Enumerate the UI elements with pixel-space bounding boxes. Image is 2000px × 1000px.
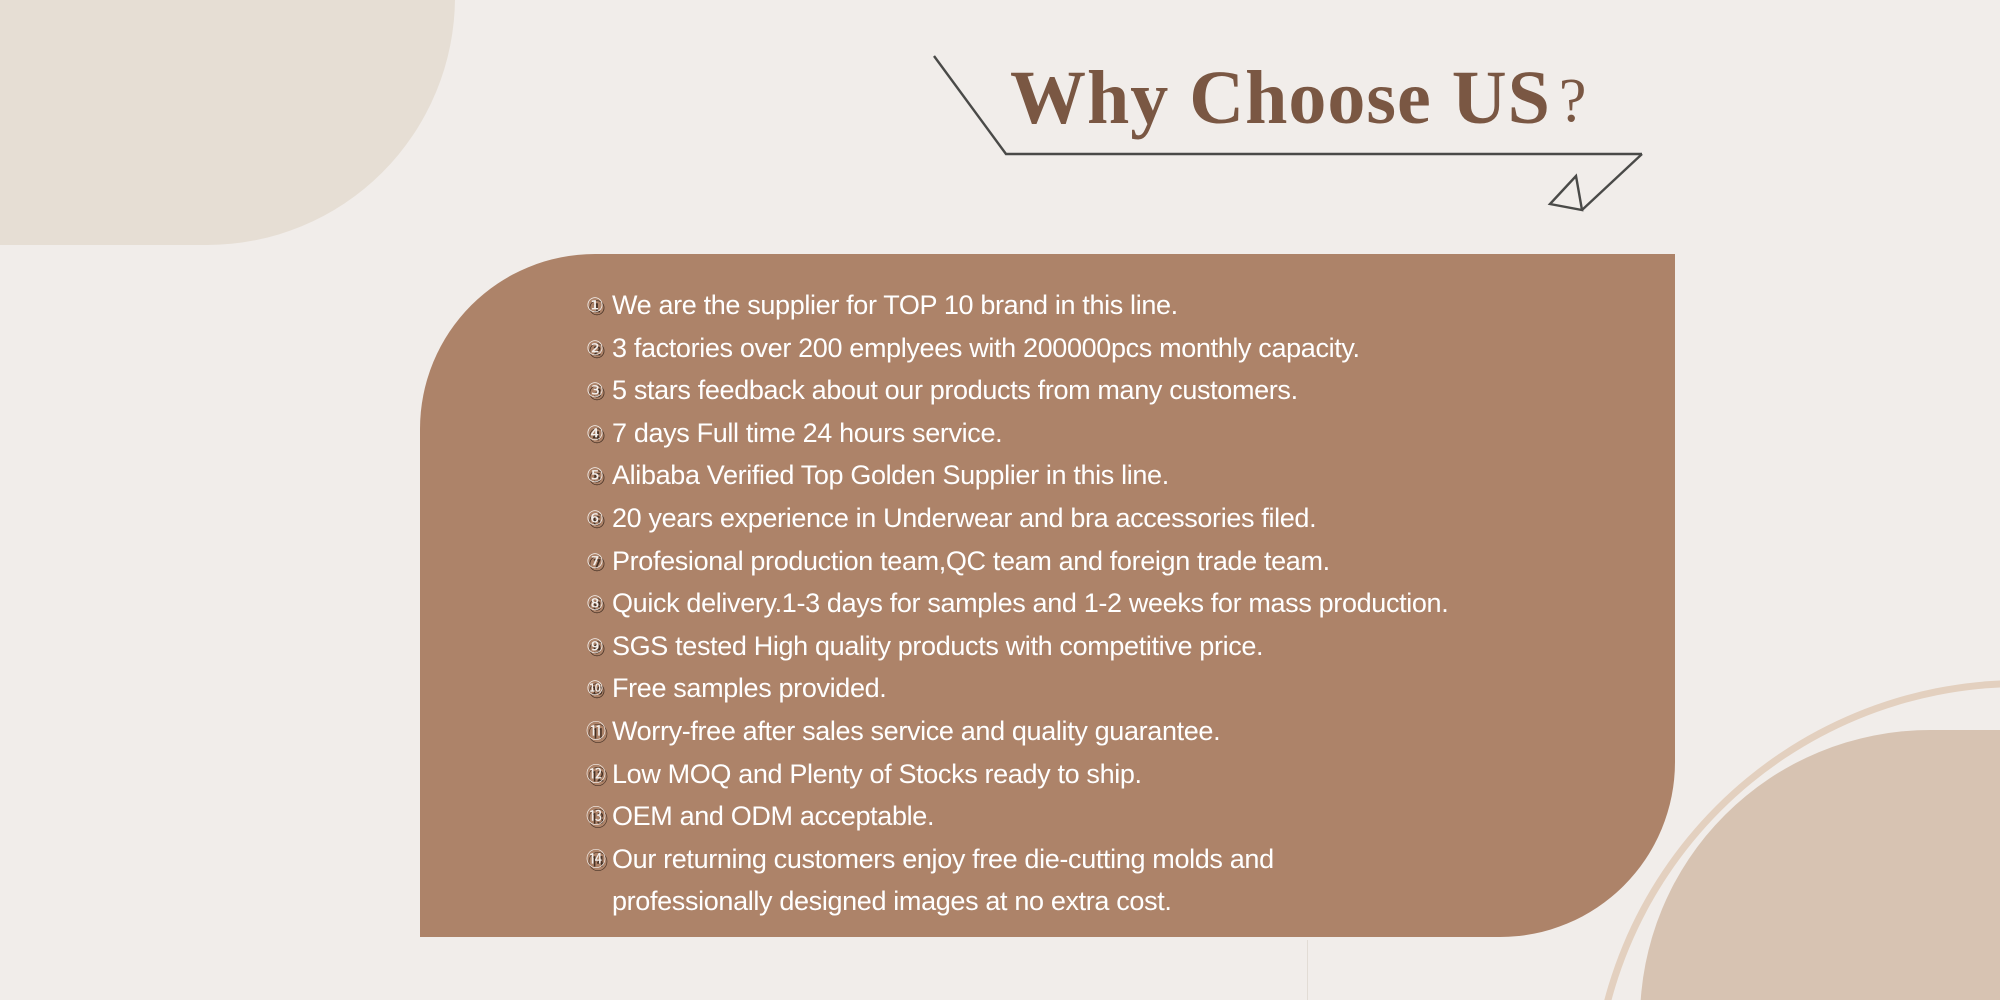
- list-marker-icon: ⑤: [586, 454, 612, 497]
- list-item: ① We are the supplier for TOP 10 brand i…: [586, 284, 1665, 327]
- list-item-text: Low MOQ and Plenty of Stocks ready to sh…: [612, 753, 1665, 796]
- list-item-text: 7 days Full time 24 hours service.: [612, 412, 1665, 455]
- list-item: ⑧ Quick delivery.1-3 days for samples an…: [586, 582, 1665, 625]
- list-item-text: SGS tested High quality products with co…: [612, 625, 1665, 668]
- list-item: ⑪ Worry-free after sales service and qua…: [586, 710, 1665, 753]
- list-item: ⑫ Low MOQ and Plenty of Stocks ready to …: [586, 753, 1665, 796]
- list-item-text: Profesional production team,QC team and …: [612, 540, 1665, 583]
- list-marker-icon: ⑩: [586, 667, 612, 710]
- list-item: ⑩ Free samples provided.: [586, 667, 1665, 710]
- list-item: ⑬ OEM and ODM acceptable.: [586, 795, 1665, 838]
- list-item: ⑤ Alibaba Verified Top Golden Supplier i…: [586, 454, 1665, 497]
- list-item: ⑭ Our returning customers enjoy free die…: [586, 838, 1665, 881]
- list-item-text: Alibaba Verified Top Golden Supplier in …: [612, 454, 1665, 497]
- list-item-text: 20 years experience in Underwear and bra…: [612, 497, 1665, 540]
- list-marker-icon: ⑥: [586, 497, 612, 540]
- list-item-text: 5 stars feedback about our products from…: [612, 369, 1665, 412]
- list-marker-icon: ⑭: [586, 838, 612, 881]
- list-item: ⑥ 20 years experience in Underwear and b…: [586, 497, 1665, 540]
- benefits-list: ① We are the supplier for TOP 10 brand i…: [586, 284, 1665, 923]
- list-marker-icon: ③: [586, 369, 612, 412]
- list-item: ③ 5 stars feedback about our products fr…: [586, 369, 1665, 412]
- header: Why Choose US?: [930, 52, 1650, 212]
- list-marker-icon: ⑫: [586, 753, 612, 796]
- slide-canvas: Why Choose US? ① We are the supplier for…: [0, 0, 2000, 1000]
- list-marker-icon: ④: [586, 412, 612, 455]
- list-marker-icon: ⑬: [586, 795, 612, 838]
- list-marker-icon: ②: [586, 327, 612, 370]
- page-title: Why Choose US?: [1010, 52, 1586, 147]
- list-item: ② 3 factories over 200 emplyees with 200…: [586, 327, 1665, 370]
- list-item: ⑦ Profesional production team,QC team an…: [586, 540, 1665, 583]
- list-item-text: Quick delivery.1-3 days for samples and …: [612, 582, 1665, 625]
- page-title-text: Why Choose US: [1010, 56, 1551, 140]
- list-item-continuation: professionally designed images at no ext…: [586, 880, 1665, 923]
- list-item-text: Free samples provided.: [612, 667, 1665, 710]
- benefits-card: ① We are the supplier for TOP 10 brand i…: [420, 254, 1675, 937]
- list-marker-icon: ⑨: [586, 625, 612, 668]
- list-item: ⑨ SGS tested High quality products with …: [586, 625, 1665, 668]
- list-item-text: We are the supplier for TOP 10 brand in …: [612, 284, 1665, 327]
- decorative-divider-line: [1307, 940, 1308, 1000]
- list-item-text: OEM and ODM acceptable.: [612, 795, 1665, 838]
- list-item-text: professionally designed images at no ext…: [612, 880, 1665, 923]
- list-marker-icon: ⑪: [586, 710, 612, 753]
- list-item-text: Our returning customers enjoy free die-c…: [612, 838, 1665, 881]
- list-item-text: 3 factories over 200 emplyees with 20000…: [612, 327, 1665, 370]
- decorative-shape-top-left: [0, 0, 455, 245]
- list-marker-icon: ①: [586, 284, 612, 327]
- list-marker-icon: ⑧: [586, 582, 612, 625]
- list-item-text: Worry-free after sales service and quali…: [612, 710, 1665, 753]
- list-item: ④ 7 days Full time 24 hours service.: [586, 412, 1665, 455]
- page-title-question-mark: ?: [1551, 67, 1587, 135]
- list-marker-icon: ⑦: [586, 540, 612, 583]
